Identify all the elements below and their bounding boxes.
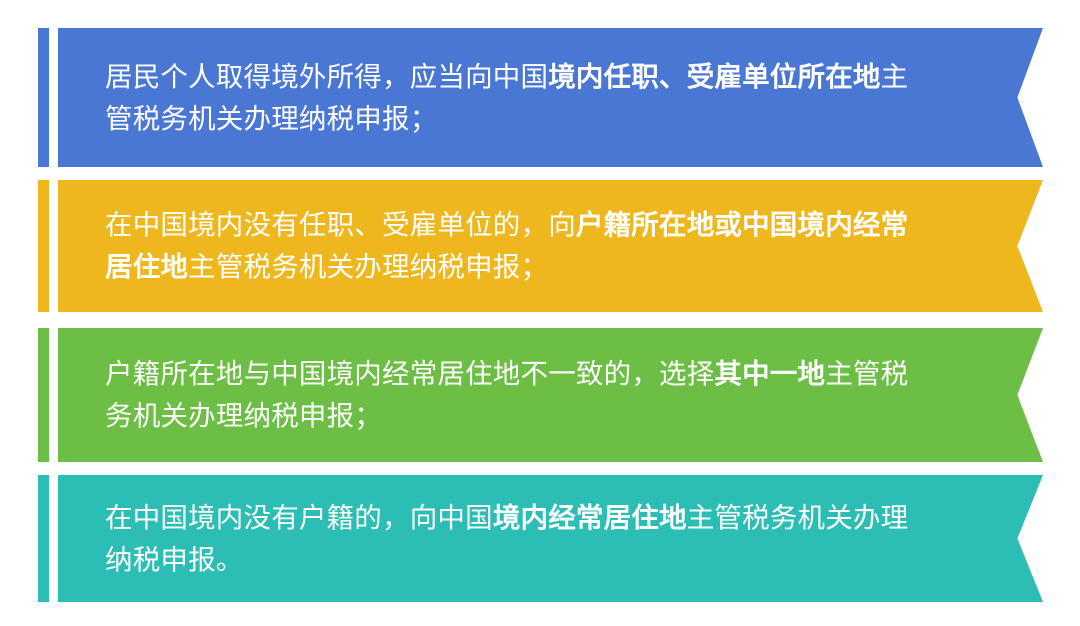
accent-bar-1 [38, 28, 49, 167]
ribbon-body-3: 户籍所在地与中国境内经常居住地不一致的，选择其中一地主管税务机关办理纳税申报； [58, 328, 1043, 462]
ribbon-text-4: 在中国境内没有户籍的，向中国境内经常居住地主管税务机关办理纳税申报。 [58, 497, 1043, 581]
accent-bar-2 [38, 180, 49, 312]
ribbon-body-4: 在中国境内没有户籍的，向中国境内经常居住地主管税务机关办理纳税申报。 [58, 475, 1043, 602]
ribbon-body-1: 居民个人取得境外所得，应当向中国境内任职、受雇单位所在地主管税务机关办理纳税申报… [58, 28, 1043, 167]
ribbon-text-1: 居民个人取得境外所得，应当向中国境内任职、受雇单位所在地主管税务机关办理纳税申报… [58, 56, 1043, 140]
ribbon-infographic: 居民个人取得境外所得，应当向中国境内任职、受雇单位所在地主管税务机关办理纳税申报… [0, 0, 1080, 626]
ribbon-text-3: 户籍所在地与中国境内经常居住地不一致的，选择其中一地主管税务机关办理纳税申报； [58, 353, 1043, 437]
ribbon-banner-2: 在中国境内没有任职、受雇单位的，向户籍所在地或中国境内经常居住地主管税务机关办理… [0, 180, 1080, 312]
ribbon-banner-1: 居民个人取得境外所得，应当向中国境内任职、受雇单位所在地主管税务机关办理纳税申报… [0, 28, 1080, 167]
ribbon-banner-3: 户籍所在地与中国境内经常居住地不一致的，选择其中一地主管税务机关办理纳税申报； [0, 328, 1080, 462]
ribbon-body-2: 在中国境内没有任职、受雇单位的，向户籍所在地或中国境内经常居住地主管税务机关办理… [58, 180, 1043, 312]
accent-bar-4 [38, 475, 49, 602]
ribbon-banner-4: 在中国境内没有户籍的，向中国境内经常居住地主管税务机关办理纳税申报。 [0, 475, 1080, 602]
accent-bar-3 [38, 328, 49, 462]
ribbon-text-2: 在中国境内没有任职、受雇单位的，向户籍所在地或中国境内经常居住地主管税务机关办理… [58, 204, 1043, 288]
